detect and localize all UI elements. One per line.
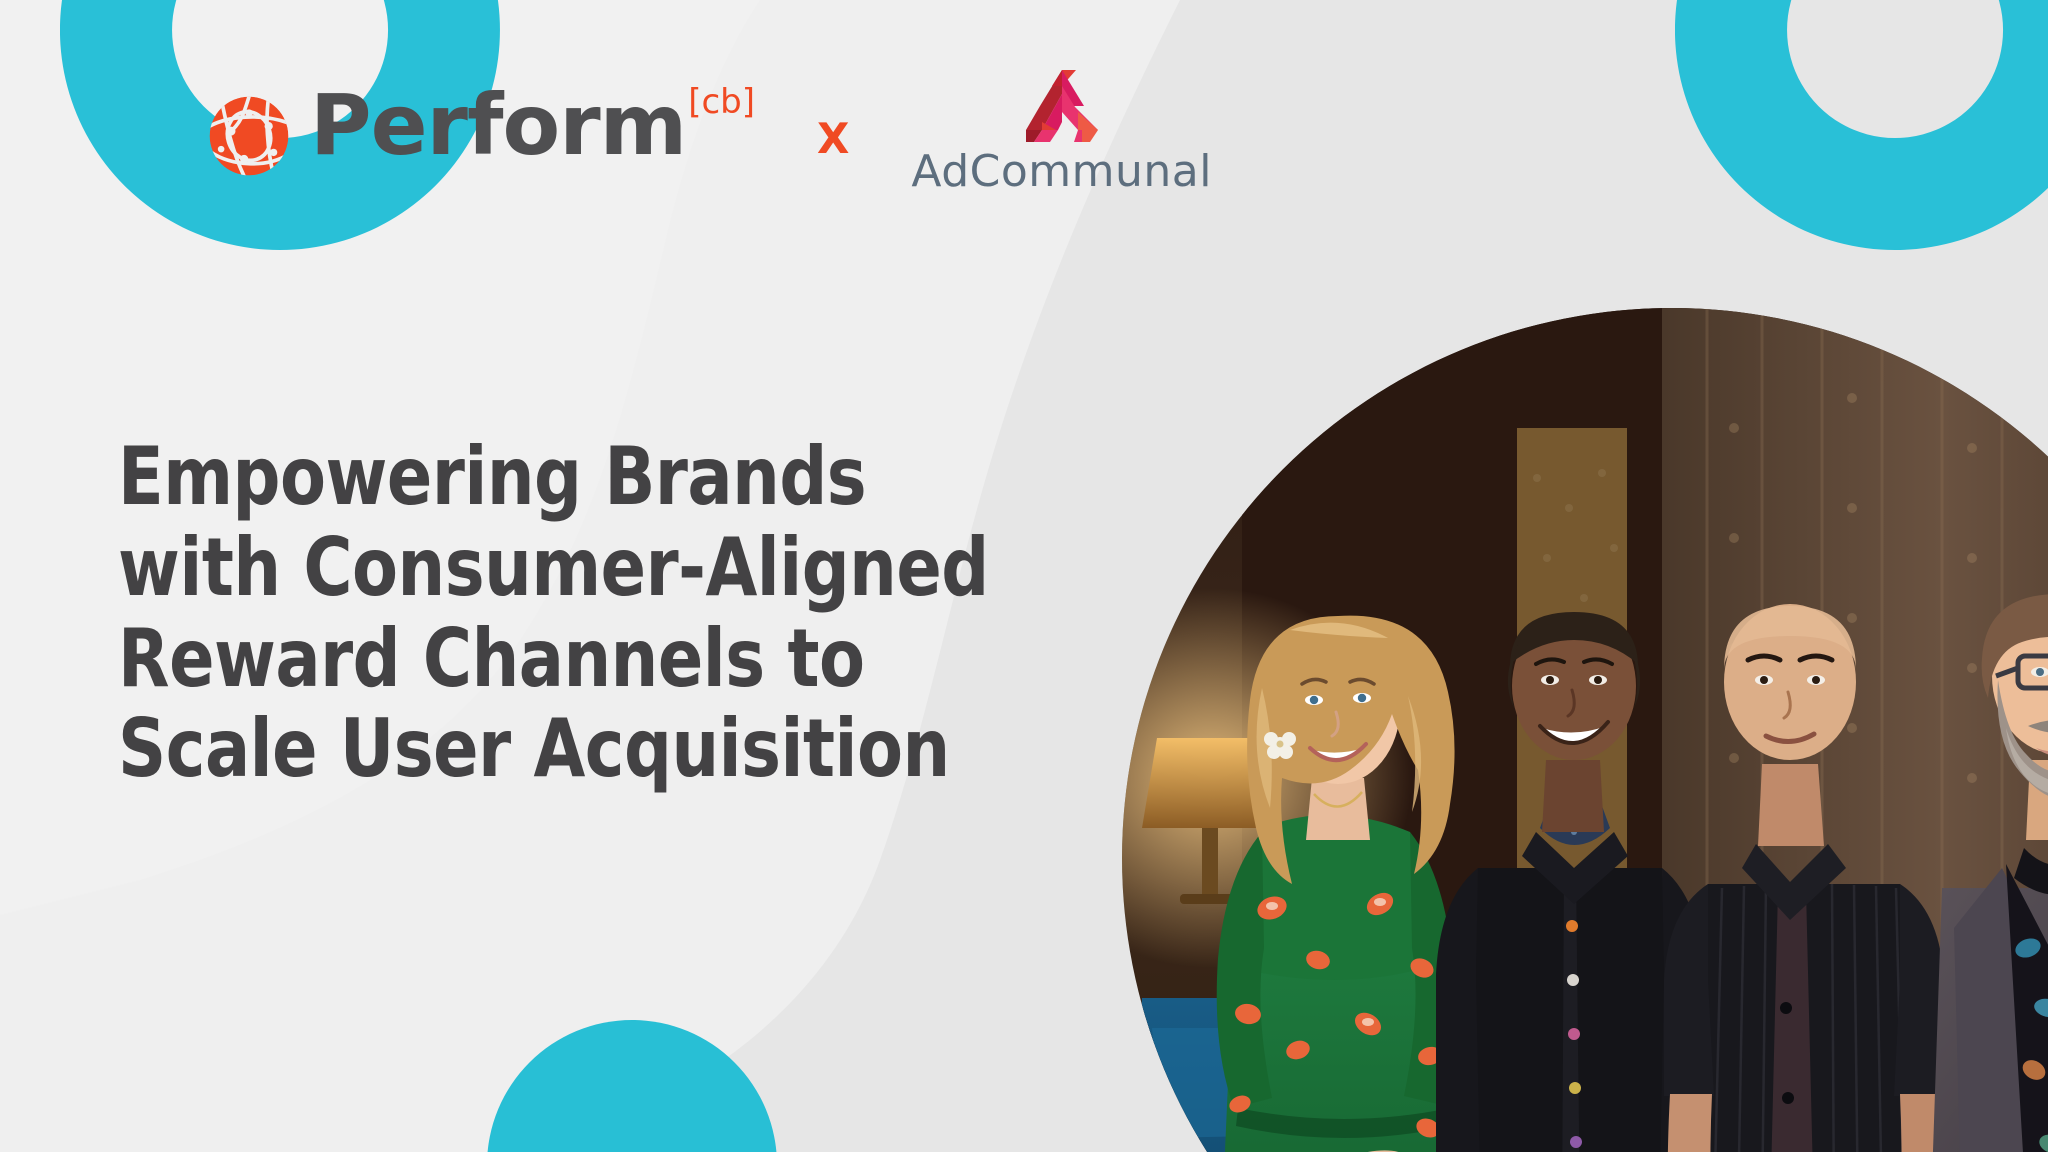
partner-logo-lockup: Perform [cb] X xyxy=(0,55,1420,205)
adcommunal-logo[interactable]: AdCommunal xyxy=(911,66,1212,194)
teal-ring-top-right xyxy=(1675,0,2048,250)
perform-cb-superscript: [cb] xyxy=(688,85,755,119)
event-photo xyxy=(1122,308,2048,1152)
promo-banner: Perform [cb] X xyxy=(0,0,2048,1152)
perform-wordmark: Perform xyxy=(310,83,686,167)
partnership-x-separator: X xyxy=(817,114,849,163)
headline-line-1: Empowering Brands xyxy=(118,432,1076,523)
perform-cb-logo[interactable]: Perform [cb] xyxy=(208,83,755,177)
faceted-a-mark-icon xyxy=(1016,66,1108,142)
headline-line-4: Scale User Acquisition xyxy=(118,704,1076,795)
page-title: Empowering Brands with Consumer-Aligned … xyxy=(118,432,1076,795)
adcommunal-wordmark: AdCommunal xyxy=(911,150,1212,194)
headline-line-2: with Consumer-Aligned xyxy=(118,523,1076,614)
event-photo-illustration xyxy=(1122,308,2048,1152)
headline-line-3: Reward Channels to xyxy=(118,614,1076,705)
globe-network-icon xyxy=(208,95,290,177)
teal-circle-bottom xyxy=(487,1020,777,1152)
